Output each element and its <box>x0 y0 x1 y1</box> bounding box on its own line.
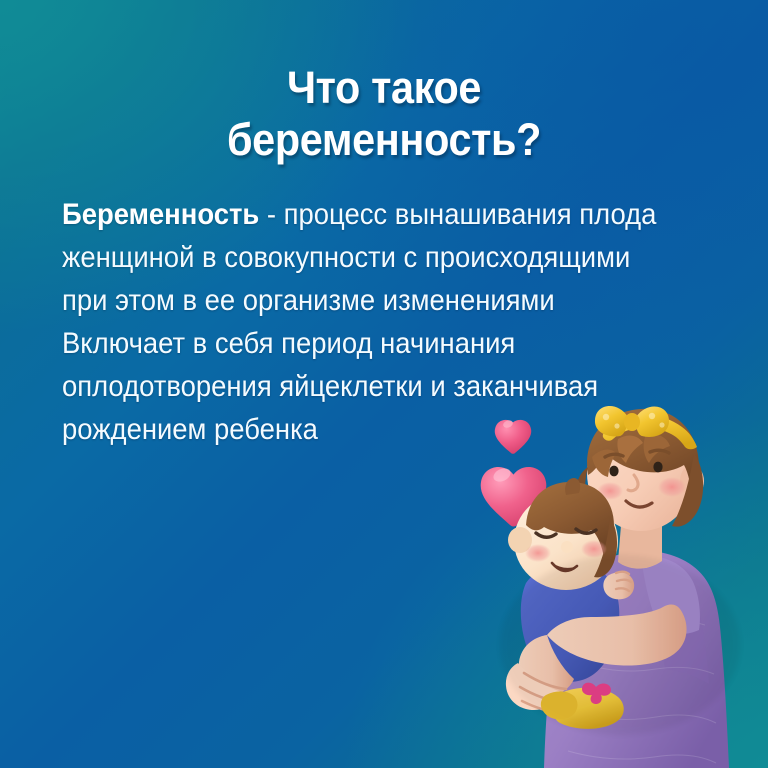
body-lead-word: Беременность <box>62 198 259 231</box>
title-line-1: Что такое <box>31 62 738 114</box>
body-line-1: Беременность - процесс вынашивания плода <box>62 193 704 236</box>
body-line-4: Включает в себя период начинания <box>62 322 704 365</box>
body-line-5: оплодотворения яйцеклетки и заканчивая <box>62 365 704 408</box>
title-line-2: беременность? <box>31 114 738 166</box>
baby-blush-right <box>581 540 607 558</box>
body-line-6: рождением ребенка <box>62 408 704 451</box>
body-text: Беременность - процесс вынашивания плода… <box>62 193 752 451</box>
baby-hair-tuft <box>565 478 580 495</box>
body-line-1-rest: - процесс вынашивания плода <box>259 198 656 231</box>
page-title: Что такое беременность? <box>0 62 768 166</box>
mother-blush-right <box>658 477 686 497</box>
mother-eye-right <box>653 462 662 473</box>
poster-canvas: Что такое беременность? Беременность - п… <box>0 0 768 768</box>
body-line-3: при этом в ее организме изменениями <box>62 279 704 322</box>
mother-eye-left <box>609 466 618 477</box>
baby-nose <box>561 541 573 553</box>
baby-blush-left <box>525 544 551 562</box>
body-line-2: женщиной в совокупности с происходящими <box>62 236 704 279</box>
